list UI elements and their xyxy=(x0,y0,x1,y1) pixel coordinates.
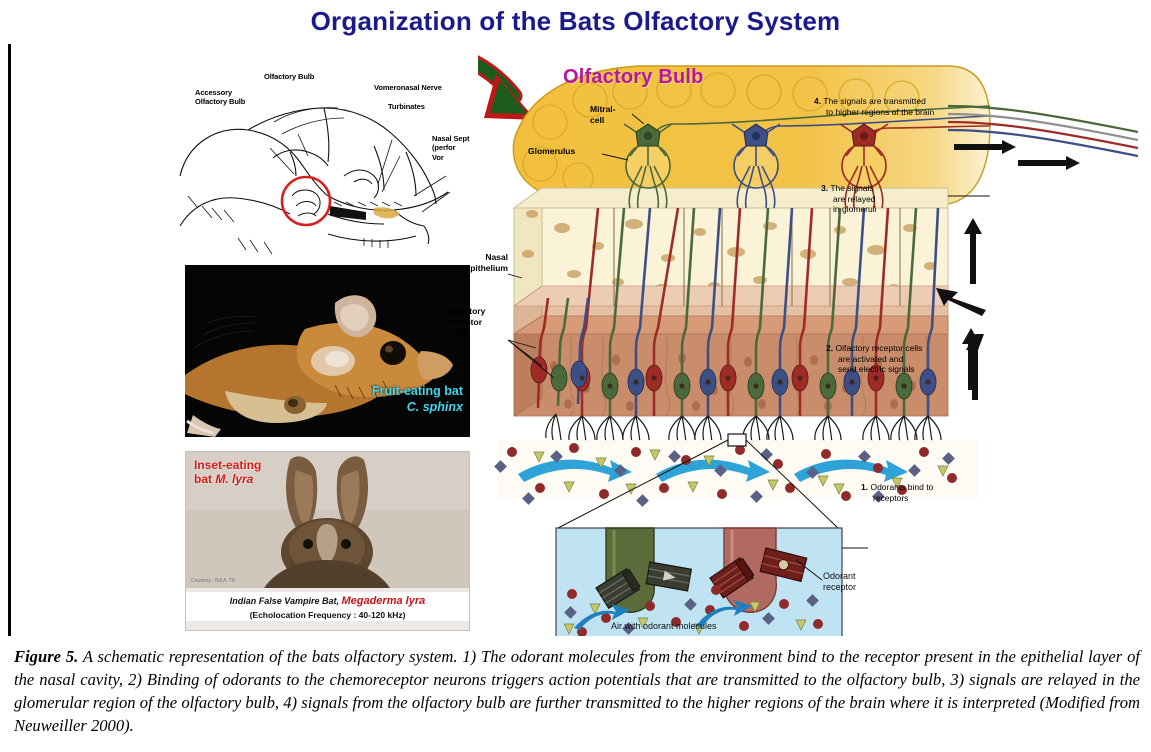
mitral-cell-line1: Mitral- xyxy=(590,104,616,114)
step-4-annotation: 4. The signals are transmitted to higher… xyxy=(814,96,934,117)
fruit-bat-label: Fruit-eating bat xyxy=(372,384,463,398)
nasal-septum-line2: (perfor xyxy=(432,143,455,152)
bulb-highlight-circle xyxy=(282,177,330,225)
inset-panel xyxy=(556,528,842,636)
lyra-caption: Indian False Vampire Bat, Megaderma lyra… xyxy=(186,592,469,621)
figure-page: Organization of the Bats Olfactory Syste… xyxy=(0,0,1151,752)
accessory-line1: Accessory xyxy=(195,88,232,97)
step-3-number: 3. xyxy=(821,183,828,193)
label-accessory-olfactory-bulb: Accessory Olfactory Bulb xyxy=(195,88,245,107)
step-1-annotation: 1. Odorants bind to receptors xyxy=(861,482,933,503)
step-1-line2: receptors xyxy=(873,493,908,503)
step-4-line2: to higher regions of the brain xyxy=(826,107,934,117)
label-olfactory-receptor-cells: Olfactory receptor cells xyxy=(448,306,508,338)
receptor-cells-line3: cells xyxy=(448,327,467,337)
step-2-annotation: 2. Olfactory receptor cells are activate… xyxy=(826,343,922,375)
label-mitral-cell: Mitral- cell xyxy=(590,104,616,125)
lyra-overlay-line2-pre: bat xyxy=(194,472,215,486)
label-nasal-epithelium: Nasal epithelium xyxy=(450,252,508,273)
nasal-epithelium-line1: Nasal xyxy=(485,252,508,262)
lyra-overlay-species: M. lyra xyxy=(215,472,253,486)
lyra-overlay-line1: Inset-eating xyxy=(194,458,261,472)
step-2-line3: send electric signals xyxy=(838,364,915,374)
photo-megaderma-lyra: Inset-eating bat M. lyra Courtesy : Bill… xyxy=(185,451,470,631)
step-1-line1: Odorants bind to xyxy=(870,482,933,492)
step-1-number: 1. xyxy=(861,482,868,492)
step-2-number: 2. xyxy=(826,343,833,353)
page-title: Organization of the Bats Olfactory Syste… xyxy=(0,6,1151,37)
green-curved-arrow xyxy=(478,48,536,120)
photo-fruit-eating-bat: Fruit-eating bat C. sphinx xyxy=(185,265,470,437)
bat-head-anatomy-diagram: Olfactory Bulb Accessory Olfactory Bulb … xyxy=(178,56,478,261)
step-3-annotation: 3. The signals are relayed in glomeruli xyxy=(821,183,876,215)
figure-caption-prefix: Figure 5. xyxy=(14,647,78,666)
nasal-epithelium-line2: epithelium xyxy=(465,263,508,273)
nasal-septum-line1: Nasal Sept xyxy=(432,134,469,143)
label-turbinates: Turbinates xyxy=(388,102,425,111)
label-nasal-septum: Nasal Sept (perfor Vor xyxy=(432,134,469,162)
lyra-caption-pre: Indian False Vampire Bat, xyxy=(230,596,342,606)
step-3-line2: are relayed xyxy=(833,194,876,204)
figure-caption-body: A schematic representation of the bats o… xyxy=(14,647,1140,735)
left-column: Olfactory Bulb Accessory Olfactory Bulb … xyxy=(178,48,478,636)
label-odorant-receptor: Odorant receptor xyxy=(823,571,856,594)
accessory-line2: Olfactory Bulb xyxy=(195,97,245,106)
label-glomerulus: Glomerulus xyxy=(528,146,575,157)
step-2-line1: Olfactory receptor cells xyxy=(835,343,922,353)
lyra-source-note: Courtesy : Bill A. TK xyxy=(191,578,235,584)
receptor-cells-line2: receptor xyxy=(448,317,482,327)
step-2-line2: are activated and xyxy=(838,354,903,364)
label-air-with-odorant-molecules: Air with odorant molecules xyxy=(611,621,717,632)
step-4-line1: The signals are transmitted xyxy=(823,96,926,106)
lyra-overlay-label: Inset-eating bat M. lyra xyxy=(194,458,261,487)
label-olfactory-bulb: Olfactory Bulb xyxy=(264,72,314,81)
step-4-number: 4. xyxy=(814,96,821,106)
label-vomeronasal-nerve: Vomeronasal Nerve xyxy=(374,83,442,92)
fruit-bat-species: C. sphinx xyxy=(372,399,463,415)
magnifier-selection-box xyxy=(728,434,746,446)
mitral-cell-line2: cell xyxy=(590,115,604,125)
olfactory-schematic: Olfactory Bulb Mitral- cell Glomerulus N… xyxy=(478,48,1138,636)
lyra-caption-line2: (Echolocation Frequency : 40-120 kHz) xyxy=(250,610,406,620)
figure-caption: Figure 5. A schematic representation of … xyxy=(14,646,1140,738)
lyra-caption-species: Megaderma lyra xyxy=(341,595,425,607)
receptor-cells-line1: Olfactory xyxy=(448,306,485,316)
odorant-receptor-line1: Odorant xyxy=(823,571,856,581)
fruit-bat-caption: Fruit-eating bat C. sphinx xyxy=(372,383,463,416)
step-3-line3: in glomeruli xyxy=(833,204,876,214)
odorant-receptor-line2: receptor xyxy=(823,582,856,592)
nasal-septum-line3: Vor xyxy=(432,153,444,162)
olfactory-bulb-title: Olfactory Bulb xyxy=(563,66,704,89)
step-3-line1: The signals xyxy=(830,183,873,193)
